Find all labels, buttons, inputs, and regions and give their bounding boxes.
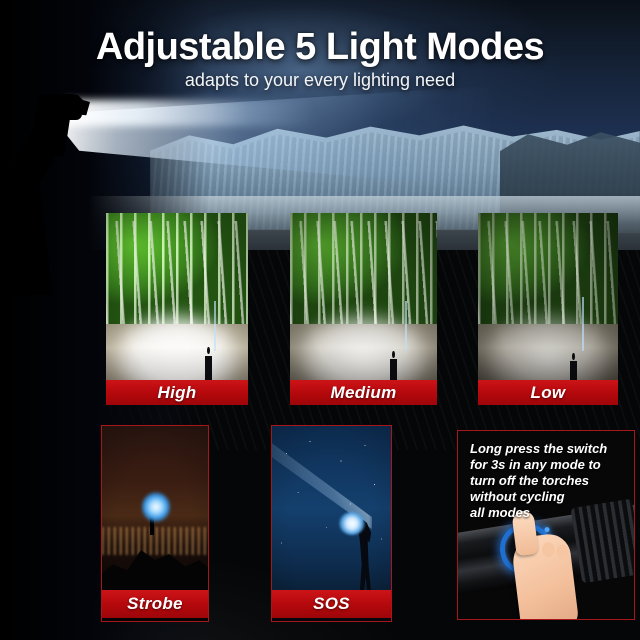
mode-card-sos[interactable]: SOS (271, 425, 392, 622)
instruction-line-5: all modes (470, 505, 620, 521)
mode-label-sos: SOS (272, 590, 391, 618)
instruction-line-1: Long press the switch (470, 441, 620, 457)
mode-card-low[interactable]: Low (478, 213, 618, 405)
page-title: Adjustable 5 Light Modes (0, 26, 640, 69)
page-subtitle: adapts to your every lighting need (0, 70, 640, 91)
mode-label-medium: Medium (290, 380, 437, 405)
mode-card-high[interactable]: High (106, 213, 248, 405)
flashlight-beam-core (64, 100, 314, 126)
mode-card-strobe[interactable]: Strobe (101, 425, 209, 622)
product-feature-image: Adjustable 5 Light Modes adapts to your … (0, 0, 640, 640)
instruction-line-3: turn off the torches (470, 473, 620, 489)
instruction-line-2: for 3s in any mode to (470, 457, 620, 473)
mode-photo-medium (290, 213, 437, 405)
person-hand-holding-torch (52, 94, 82, 120)
mode-photo-high (106, 213, 248, 405)
mode-label-low: Low (478, 380, 618, 405)
mode-label-strobe: Strobe (102, 590, 208, 618)
mode-photo-low (478, 213, 618, 405)
long-press-instruction-panel: Long press the switch for 3s in any mode… (457, 430, 635, 620)
instruction-text: Long press the switch for 3s in any mode… (470, 441, 620, 521)
mode-label-high: High (106, 380, 248, 405)
instruction-line-4: without cycling (470, 489, 620, 505)
mode-card-medium[interactable]: Medium (290, 213, 437, 405)
